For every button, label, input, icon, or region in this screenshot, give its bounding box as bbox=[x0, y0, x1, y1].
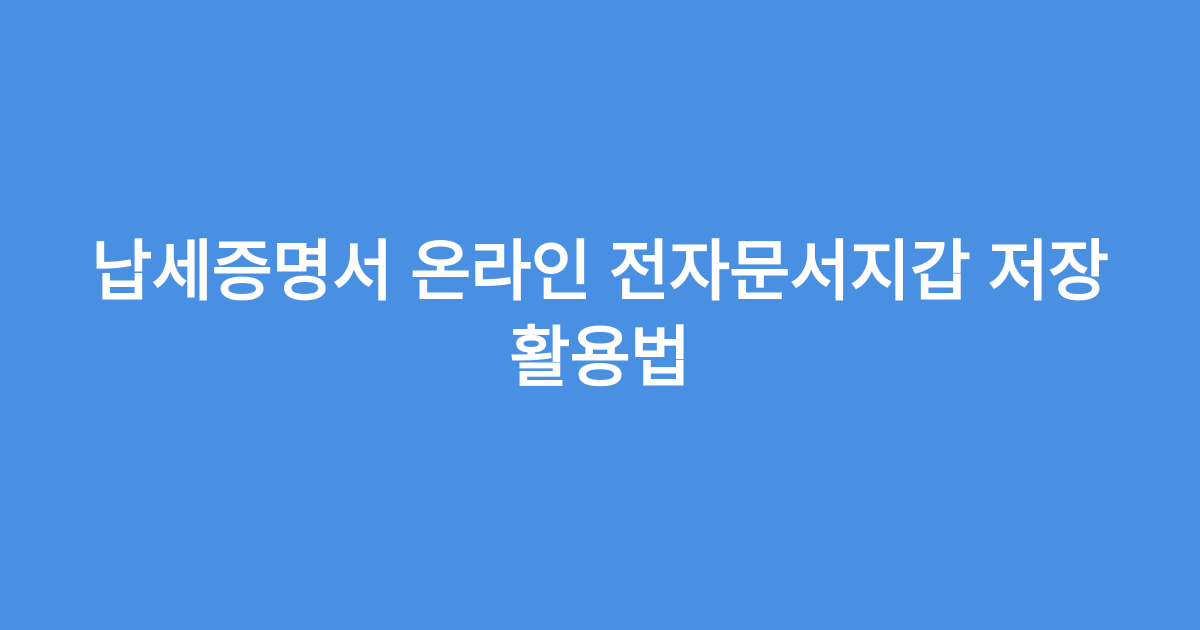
banner-title: 납세증명서 온라인 전자문서지갑 저장 활용법 bbox=[55, 229, 1145, 401]
banner-content-wrapper: 납세증명서 온라인 전자문서지갑 저장 활용법 bbox=[55, 229, 1145, 401]
og-banner-card: 납세증명서 온라인 전자문서지갑 저장 활용법 bbox=[0, 0, 1200, 630]
